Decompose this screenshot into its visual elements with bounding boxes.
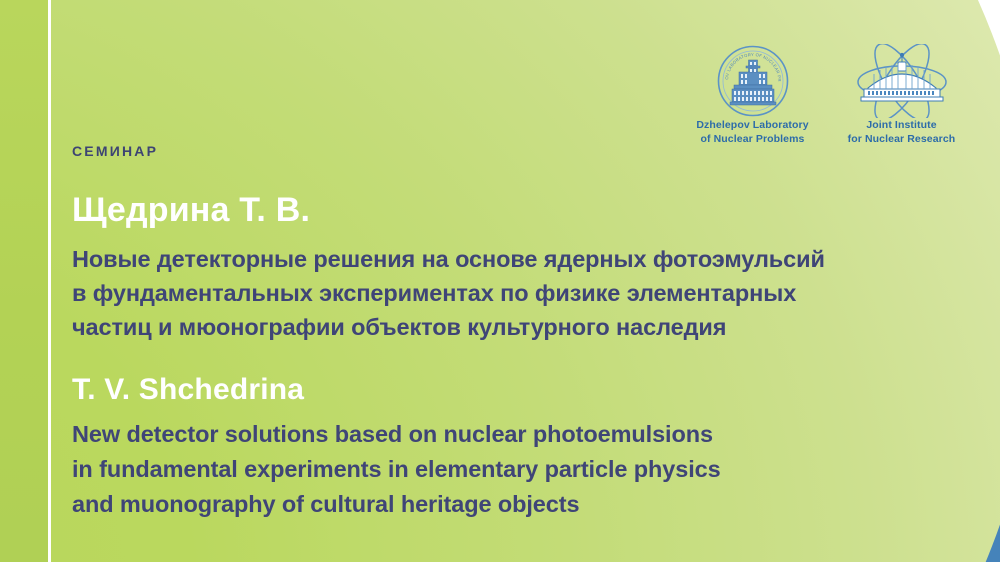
speaker-name-en: T. V. Shchedrina (72, 372, 304, 408)
talk-title-en-line-3: and muonography of cultural heritage obj… (72, 487, 912, 522)
talk-title-en-line-1: New detector solutions based on nuclear … (72, 417, 912, 452)
talk-title-ru-line-1: Новые детекторные решения на основе ядер… (72, 242, 912, 276)
talk-title-ru-line-3: частиц и мюонографии объектов культурног… (72, 310, 912, 344)
left-green-bar (0, 0, 48, 562)
white-vertical-divider (48, 0, 51, 562)
poster-content: СЕМИНАР Щедрина Т. В. Новые детекторные … (72, 0, 932, 562)
speaker-name-ru: Щедрина Т. В. (72, 190, 310, 230)
talk-title-ru-line-2: в фундаментальных экспериментах по физик… (72, 276, 912, 310)
seminar-poster: DZHELEPOV LABORATORY OF NUCLEAR PROBLEMS (0, 0, 1000, 562)
talk-title-en-line-2: in fundamental experiments in elementary… (72, 452, 912, 487)
talk-title-en: New detector solutions based on nuclear … (72, 417, 912, 522)
talk-title-ru: Новые детекторные решения на основе ядер… (72, 242, 912, 344)
event-type-label: СЕМИНАР (72, 143, 158, 159)
